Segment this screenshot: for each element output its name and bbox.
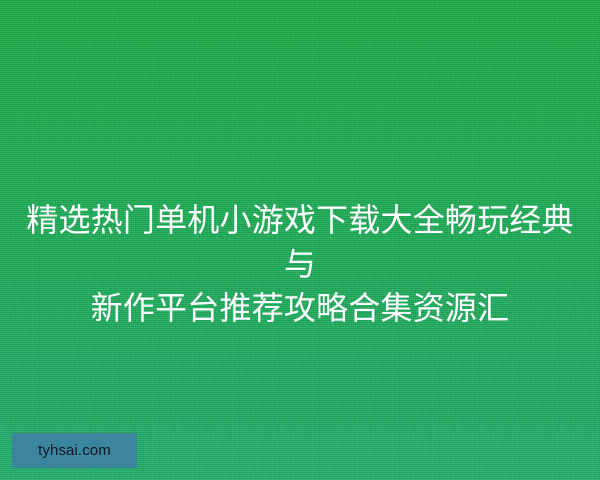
- page-title: 精选热门单机小游戏下载大全畅玩经典与 新作平台推荐攻略合集资源汇: [0, 198, 600, 330]
- watermark-label: tyhsai.com: [38, 443, 111, 458]
- banner-canvas: 精选热门单机小游戏下载大全畅玩经典与 新作平台推荐攻略合集资源汇 tyhsai.…: [0, 0, 600, 480]
- watermark-badge: tyhsai.com: [12, 433, 137, 468]
